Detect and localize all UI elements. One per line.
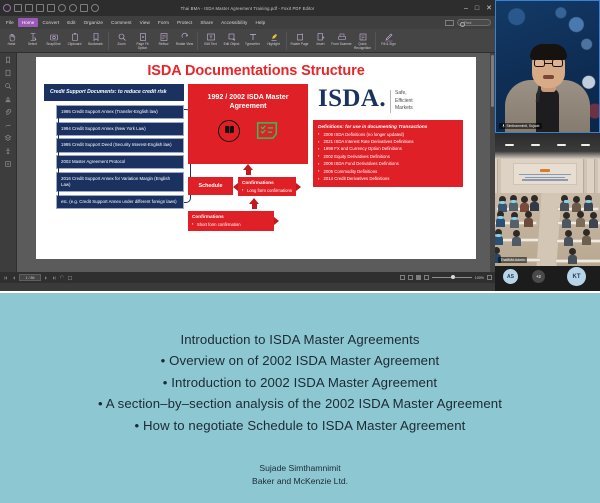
face-mask [512, 217, 517, 220]
ribbon-toolbar: Hand Select SnapShot Clipboard Bookmark [0, 29, 495, 53]
confirmations-short-row: Confirmations Short form confirmation [188, 211, 308, 230]
sign-pen-icon [384, 32, 394, 42]
ribbon-quick-recognition-label: Quick Recognition [352, 43, 373, 50]
rotate-icon[interactable] [59, 275, 65, 281]
ribbon-edit-text-label: Edit Text [204, 43, 216, 47]
definitions-item: 2006 ISDA Definitions (no longer updated… [318, 132, 458, 138]
ceiling-light [505, 144, 514, 146]
stage-banner [513, 163, 577, 185]
video-tile-name-badge: ThaiBMA Admin [498, 257, 527, 263]
ribbon-edit-object-tool[interactable]: Edit Object [221, 31, 242, 47]
arrow-right-long-form [296, 183, 301, 191]
confirmations-short-item: Short form confirmation [192, 222, 270, 228]
face-mask [496, 234, 501, 237]
pages-thumbnail-icon[interactable] [4, 69, 12, 77]
snapshot-icon [49, 32, 59, 42]
definitions-group: ISDA. Safe, Efficient Markets Definition… [312, 84, 464, 188]
definitions-item: 2014 Credit Derivatives Definitions [318, 176, 458, 182]
confirmations-long-item: Long form confirmations [242, 188, 292, 194]
ribbon-typewriter-label: Typewriter [245, 43, 260, 47]
ribbon-bookmark-tool[interactable]: Bookmark [85, 31, 106, 47]
isda-tagline-3: Markets [395, 105, 413, 113]
single-page-view-icon[interactable] [400, 275, 405, 280]
next-page-icon[interactable] [43, 275, 49, 281]
agenda-line: • A section–by–section analysis of the 2… [98, 393, 502, 414]
ribbon-snapshot-tool[interactable]: SnapShot [43, 31, 64, 47]
face-mask [500, 201, 505, 204]
destinations-icon[interactable] [4, 160, 12, 168]
attendee [510, 195, 517, 211]
menu-organize[interactable]: Organize [80, 18, 107, 27]
confirmations-long-box: Confirmations Long form confirmations [238, 177, 296, 196]
arrow-right-short-form [274, 217, 279, 225]
ceiling-light [581, 144, 590, 146]
close-button[interactable]: ✕ [486, 5, 492, 12]
ribbon-page-fit-label: Page Fit Option [132, 43, 153, 50]
ribbon-insert-tool[interactable]: Insert [310, 31, 331, 47]
participant-avatar-bar: AS +2 KT [495, 266, 600, 291]
ribbon-typewriter-tool[interactable]: Typewriter [242, 31, 263, 47]
scrollbar-thumb[interactable] [491, 55, 494, 107]
credit-support-item: 1995 Credit Support Annex (Transfer-Engl… [56, 105, 184, 119]
ribbon-reflow-label: Reflow [159, 43, 169, 47]
quick-access-toolbar [3, 4, 99, 12]
ribbon-select-tool[interactable]: Select [22, 31, 43, 47]
navigation-pane [0, 53, 17, 272]
zoom-level-label: 100% [475, 276, 484, 280]
attendee [590, 212, 597, 228]
ribbon-from-scanner-tool[interactable]: From Scanner [331, 31, 352, 47]
face-mask [564, 200, 569, 203]
slide-body: Credit Support Documents: to reduce cred… [44, 84, 468, 231]
pdf-page: ISDA Documentations Structure Credit Sup… [36, 57, 476, 259]
ribbon-zoom-tool[interactable]: Zoom [111, 31, 132, 47]
undo-icon[interactable] [58, 4, 66, 12]
ceiling-light [531, 144, 540, 146]
find-area: Find [445, 19, 491, 26]
continuous-view-icon[interactable] [408, 275, 413, 280]
agenda-line: • Introduction to 2002 ISDA Master Agree… [163, 372, 437, 393]
avatar[interactable]: AS [503, 269, 518, 284]
attachment-icon[interactable] [4, 108, 12, 116]
menu-convert[interactable]: Convert [38, 18, 63, 27]
face-mask [586, 200, 591, 203]
signature-icon[interactable] [4, 121, 12, 129]
help-circle-icon[interactable] [91, 4, 99, 12]
window-controls: – □ ✕ [464, 0, 492, 16]
agenda-line: Introduction to ISDA Master Agreements [180, 329, 419, 350]
video-tile-classroom[interactable]: ThaiBMA Admin [495, 133, 600, 266]
confirmations-short-box: Confirmations Short form confirmation [188, 211, 274, 230]
open-book-icon [218, 120, 240, 142]
attendee [583, 229, 590, 245]
redo-icon[interactable] [69, 4, 77, 12]
zoom-icon [117, 32, 127, 42]
clipboard-icon [70, 32, 80, 42]
menu-home[interactable]: Home [18, 18, 39, 27]
master-agreement-icons [218, 120, 278, 142]
video-tile-speaker[interactable]: Simthamnimit, Sujade [495, 0, 600, 133]
facing-view-icon[interactable] [416, 275, 421, 280]
attendee [495, 229, 502, 245]
accessibility-icon[interactable] [4, 147, 12, 155]
ribbon-insert-label: Insert [316, 43, 324, 47]
definitions-header: Definitions: for use in documenting Tran… [318, 124, 458, 130]
menu-edit[interactable]: Edit [63, 18, 79, 27]
page-number-input[interactable]: 1 / 86 [19, 274, 41, 281]
scanner-icon [337, 32, 347, 42]
definitions-item: 1998 FX and Currency Option Definitions [318, 146, 458, 152]
first-page-icon[interactable] [3, 275, 9, 281]
layout-switch-icon[interactable] [445, 20, 454, 26]
document-area: ISDA Documentations Structure Credit Sup… [0, 53, 495, 272]
definitions-box: Definitions: for use in documenting Tran… [312, 119, 464, 188]
attendee [569, 248, 576, 264]
typewriter-icon [248, 32, 258, 42]
attendee [563, 212, 570, 228]
bookmarks-icon[interactable] [4, 56, 12, 64]
credit-support-item: 2002 Master Agreement Protocol [56, 155, 184, 169]
credit-support-list: 1995 Credit Support Annex (Transfer-Engl… [56, 105, 184, 209]
ribbon-select-label: Select [28, 43, 37, 47]
banner-logo-icon [540, 169, 550, 172]
attendee [565, 230, 572, 246]
avatar-overflow[interactable]: +2 [532, 270, 545, 283]
desk [555, 259, 600, 263]
presenter-name: Sujade Simthamnimit [252, 462, 348, 475]
attendee [521, 196, 528, 212]
ocr-icon [358, 32, 368, 42]
microphone-icon [502, 124, 505, 128]
credit-support-item: 2016 Credit Support Annex for Variation … [56, 172, 184, 192]
ceiling [495, 133, 600, 159]
master-agreement-title: 1992 / 2002 ISDA Master Agreement [193, 93, 303, 111]
ribbon-highlight-label: Highlight [267, 43, 280, 47]
attendee [513, 230, 520, 246]
maximize-button[interactable]: □ [475, 5, 479, 12]
ribbon-quick-recognition-tool[interactable]: Quick Recognition [352, 31, 373, 50]
zoom-slider-thumb[interactable] [451, 275, 455, 279]
app-logo-icon [3, 4, 11, 12]
ribbon-edit-object-label: Edit Object [224, 43, 240, 47]
isda-wordmark: ISDA. [318, 87, 386, 111]
confirmations-short-title: Confirmations [192, 214, 270, 220]
attendee [525, 211, 532, 227]
attendee [499, 196, 506, 212]
ribbon-separator [286, 32, 287, 50]
agenda-line: • Overview on of 2002 ISDA Master Agreem… [161, 350, 440, 371]
ceiling-light [557, 144, 566, 146]
definitions-item: 2005 Commodity Definitions [318, 169, 458, 175]
arrow-up-to-master [188, 164, 308, 175]
zoom-slider[interactable] [432, 275, 472, 280]
pdf-editor-window: Thai BMA - ISDA Master Agreement Trainin… [0, 0, 495, 291]
menu-comment[interactable]: Comment [107, 18, 136, 27]
attendee [511, 212, 518, 228]
attendee [531, 195, 538, 211]
email-icon[interactable] [36, 4, 44, 12]
layers-icon[interactable] [4, 134, 12, 142]
ribbon-page-fit-tool[interactable]: Page Fit Option [132, 31, 153, 50]
menu-view[interactable]: View [136, 18, 154, 27]
desk [556, 239, 600, 243]
video-conference-panel: Simthamnimit, Sujade [495, 0, 600, 291]
arrow-up-to-schedule [200, 198, 308, 209]
ribbon-edit-text-tool[interactable]: Edit Text [200, 31, 221, 47]
ribbon-rotate-page-tool[interactable]: Rotate Page [289, 31, 310, 47]
presenter-company: Baker and McKenzie Ltd. [252, 475, 348, 488]
isda-tagline-1: Safe, [395, 90, 413, 98]
select-text-icon [28, 32, 38, 42]
speaker-mouth [543, 75, 554, 79]
ribbon-hand-tool[interactable]: Hand [1, 31, 22, 47]
menu-protect[interactable]: Protect [173, 18, 196, 27]
search-icon[interactable] [4, 82, 12, 90]
reflow-icon [159, 32, 169, 42]
isda-tagline-2: Efficient [395, 98, 413, 106]
menu-form[interactable]: Form [154, 18, 173, 27]
insert-page-icon [316, 32, 326, 42]
new-tab-icon[interactable] [47, 4, 55, 12]
prev-page-icon[interactable] [11, 275, 17, 281]
ribbon-reflow-tool[interactable]: Reflow [153, 31, 174, 47]
menu-accessibility[interactable]: Accessibility [217, 18, 251, 27]
title-bar: Thai BMA - ISDA Master Agreement Trainin… [0, 0, 495, 16]
face-mask [498, 216, 503, 219]
video-tile-name-badge: Simthamnimit, Sujade [499, 123, 542, 129]
find-input[interactable]: Find [457, 19, 491, 26]
screen: Thai BMA - ISDA Master Agreement Trainin… [0, 0, 600, 503]
page-layout-icon[interactable] [67, 275, 73, 281]
ribbon-separator [197, 32, 198, 50]
highlight-icon [269, 32, 279, 42]
credit-support-item: etc. (e.g. Credit Support Annex under di… [56, 195, 184, 209]
isda-tagline: Safe, Efficient Markets [390, 90, 413, 113]
attendee [497, 211, 504, 227]
classroom-background [495, 133, 600, 266]
status-bar-right: 100% [400, 275, 492, 280]
save-icon[interactable] [14, 4, 22, 12]
video-tile-name: ThaiBMA Admin [501, 258, 525, 262]
slide-title: ISDA Documentations Structure [44, 63, 468, 79]
split-view-icon[interactable] [424, 275, 429, 280]
avatar[interactable]: KT [567, 267, 586, 286]
bookmark-icon [91, 32, 101, 42]
print-icon[interactable] [25, 4, 33, 12]
face-mask [511, 200, 516, 203]
definitions-item: 2002 Equity Derivatives Definitions [318, 154, 458, 160]
customize-toolbar-icon[interactable] [80, 4, 88, 12]
attendee [585, 195, 592, 211]
speaker-figure [496, 36, 599, 132]
credit-support-item: 1995 Credit Support Deed (Security Inter… [56, 138, 184, 152]
edit-object-icon [227, 32, 237, 42]
ribbon-separator [108, 32, 109, 50]
ribbon-snapshot-label: SnapShot [46, 43, 60, 47]
ribbon-rotate-view-label: Rotate View [176, 43, 193, 47]
credit-support-item: 1994 Credit Support Annex (New York Law) [56, 122, 184, 136]
presenter-block: Sujade Simthamnimit Baker and McKenzie L… [252, 462, 348, 489]
definitions-item: 2006 ISDA Fund Derivatives Definitions [318, 161, 458, 167]
credit-support-group: Credit Support Documents: to reduce cred… [44, 84, 184, 212]
schedule-box: Schedule [188, 177, 233, 195]
ribbon-rotate-view-tool[interactable]: Rotate View [174, 31, 195, 47]
agenda-line: • How to negotiate Schedule to ISDA Mast… [135, 415, 466, 436]
attendee [573, 196, 580, 212]
menu-file[interactable]: File [2, 18, 18, 27]
glasses-icon [534, 59, 563, 68]
video-tile-name: Simthamnimit, Sujade [507, 124, 540, 128]
menu-help[interactable]: Help [251, 18, 269, 27]
menu-bar: File Home Convert Edit Organize Comment … [0, 16, 495, 29]
arrow-up-stem [252, 204, 257, 209]
edit-text-icon [206, 32, 216, 42]
page-fit-icon [138, 32, 148, 42]
definitions-item: 2021 ISDA Interest Rate Derivatives Defi… [318, 139, 458, 145]
rotate-page-icon [295, 32, 305, 42]
status-bar: 1 / 86 100% [0, 272, 495, 283]
attendee [561, 195, 568, 211]
checklist-document-icon [256, 121, 278, 140]
ribbon-from-scanner-label: From Scanner [331, 43, 351, 47]
page-viewport[interactable]: ISDA Documentations Structure Credit Sup… [17, 53, 495, 272]
speaker-hair [530, 44, 567, 60]
agenda-panel: Introduction to ISDA Master Agreements •… [0, 291, 600, 503]
master-agreement-box: 1992 / 2002 ISDA Master Agreement [188, 84, 308, 164]
menu-share[interactable]: Share [196, 18, 217, 27]
confirmations-long-title: Confirmations [242, 180, 292, 186]
ribbon-separator [375, 32, 376, 50]
ribbon-fill-sign-label: Fill & Sign [381, 43, 396, 47]
brace-left [58, 107, 67, 205]
ribbon-clipboard-tool[interactable]: Clipboard [64, 31, 85, 47]
ribbon-highlight-tool[interactable]: Highlight [263, 31, 284, 47]
ribbon-hand-label: Hand [8, 43, 16, 47]
schedule-confirmations-row: Schedule Confirmations Long form confirm… [188, 177, 308, 196]
stamps-icon[interactable] [4, 95, 12, 103]
ribbon-clipboard-label: Clipboard [68, 43, 82, 47]
arrow-up-stem [246, 170, 251, 175]
ribbon-rotate-page-label: Rotate Page [291, 43, 309, 47]
ribbon-bookmark-label: Bookmark [88, 43, 103, 47]
hand-icon [7, 32, 17, 42]
ribbon-fill-sign-tool[interactable]: Fill & Sign [378, 31, 399, 47]
master-agreement-group: 1992 / 2002 ISDA Master Agreement [188, 84, 308, 231]
minimize-button[interactable]: – [464, 5, 468, 12]
ribbon-zoom-label: Zoom [117, 43, 125, 47]
rotate-view-icon [180, 32, 190, 42]
fullscreen-icon[interactable] [487, 275, 492, 280]
credit-support-header: Credit Support Documents: to reduce cred… [44, 84, 184, 101]
attendee [577, 211, 584, 227]
isda-logo: ISDA. Safe, Efficient Markets [312, 84, 464, 113]
last-page-icon[interactable] [51, 275, 57, 281]
